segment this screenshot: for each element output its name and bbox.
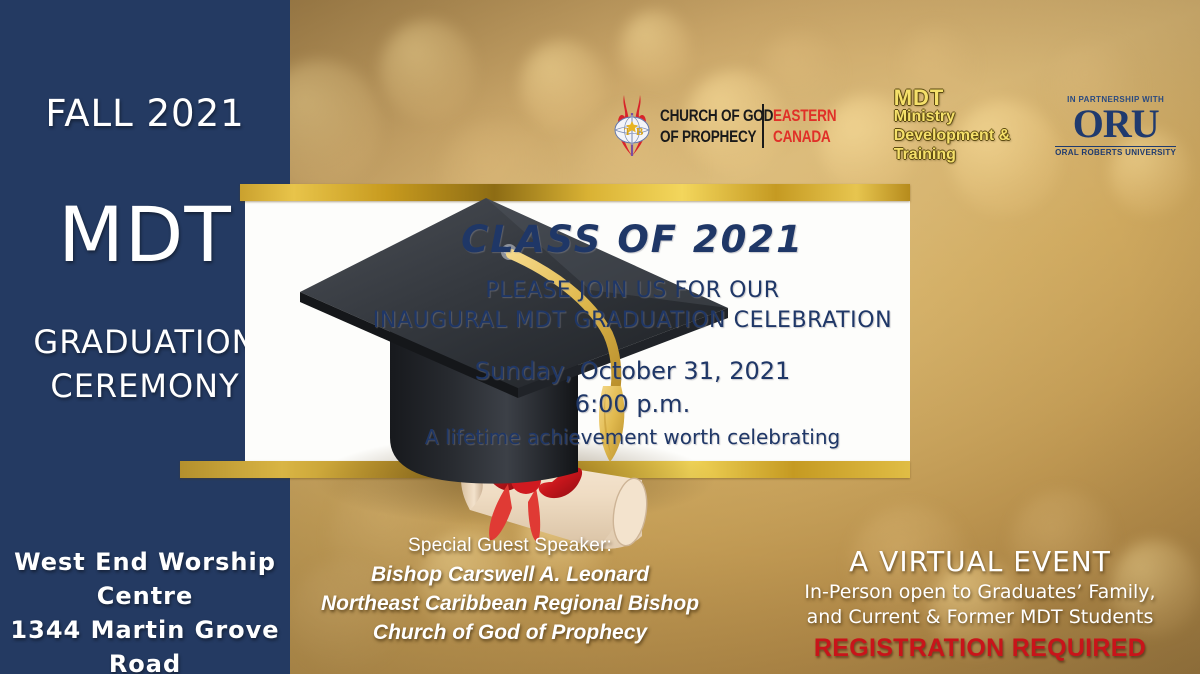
class-of-headline: CLASS OF 2021 (355, 218, 910, 261)
oru-wordmark: ORU (1055, 104, 1176, 144)
speaker-details: Bishop Carswell A. Leonard Northeast Car… (300, 560, 720, 647)
season-title: FALL 2021 (0, 92, 290, 135)
virtual-event-title: A VIRTUAL EVENT (770, 545, 1190, 578)
venue-name: West End Worship Centre (0, 545, 290, 613)
mdt-full-name: Ministry Development & Training (894, 107, 1010, 164)
cogop-region-line-2: CANADA (773, 126, 836, 147)
oru-full-name: ORAL ROBERTS UNIVERSITY (1055, 148, 1176, 157)
church-of-god-of-prophecy-emblem: T B (612, 93, 652, 159)
guest-speaker-block: Special Guest Speaker: Bishop Carswell A… (300, 535, 720, 647)
venue-street: 1344 Martin Grove Road (0, 613, 290, 674)
oru-logo: IN PARTNERSHIP WITH ORU ORAL ROBERTS UNI… (1055, 95, 1176, 157)
virtual-sub-line-1: In-Person open to Graduates’ Family, (770, 580, 1190, 605)
mdt-full-line-3: Training (894, 145, 1010, 164)
mdt-abbreviation: MDT (894, 88, 1010, 107)
cogop-region-wordmark: EASTERN CANADA (773, 105, 836, 147)
cogop-region-line-1: EASTERN (773, 105, 836, 126)
venue-address: West End Worship Centre 1344 Martin Grov… (0, 545, 290, 674)
mdt-full-line-1: Ministry (894, 107, 1010, 126)
church-of-god-of-prophecy-logo: T B CHURCH OF GOD OF PROPHECY EASTERN CA… (612, 93, 852, 159)
invitation-line-1: PLEASE JOIN US FOR OUR (355, 276, 910, 306)
mdt-full-line-2: Development & (894, 126, 1010, 145)
cogop-wordmark: CHURCH OF GOD OF PROPHECY (660, 105, 773, 147)
speaker-title: Northeast Caribbean Regional Bishop (300, 589, 720, 618)
virtual-event-subtitle: In-Person open to Graduates’ Family, and… (770, 580, 1190, 630)
invitation-line-2: INAUGURAL MDT GRADUATION CELEBRATION (355, 306, 910, 336)
event-tagline: A lifetime achievement worth celebrating (355, 425, 910, 449)
oru-logo-rule (1055, 146, 1176, 147)
speaker-name: Bishop Carswell A. Leonard (300, 560, 720, 589)
svg-text:B: B (636, 126, 644, 138)
event-date: Sunday, October 31, 2021 (355, 355, 910, 388)
virtual-event-block: A VIRTUAL EVENT In-Person open to Gradua… (770, 545, 1190, 663)
event-time: 6:00 p.m. (355, 388, 910, 421)
speaker-organization: Church of God of Prophecy (300, 618, 720, 647)
speaker-label: Special Guest Speaker: (300, 535, 720, 557)
event-datetime: Sunday, October 31, 2021 6:00 p.m. (355, 355, 910, 421)
virtual-sub-line-2: and Current & Former MDT Students (770, 605, 1190, 630)
graduation-announcement-poster: CLASS OF 2021 PLEASE JOIN US FOR OUR INA… (0, 0, 1200, 674)
partner-logo-row: T B CHURCH OF GOD OF PROPHECY EASTERN CA… (612, 78, 1176, 174)
invitation-text: PLEASE JOIN US FOR OUR INAUGURAL MDT GRA… (355, 276, 910, 336)
mdt-logo: MDT Ministry Development & Training (894, 88, 1010, 164)
cogop-name-line-2: OF PROPHECY (660, 126, 773, 147)
registration-required-notice: REGISTRATION REQUIRED (770, 634, 1190, 663)
cogop-name-line-1: CHURCH OF GOD (660, 105, 773, 126)
